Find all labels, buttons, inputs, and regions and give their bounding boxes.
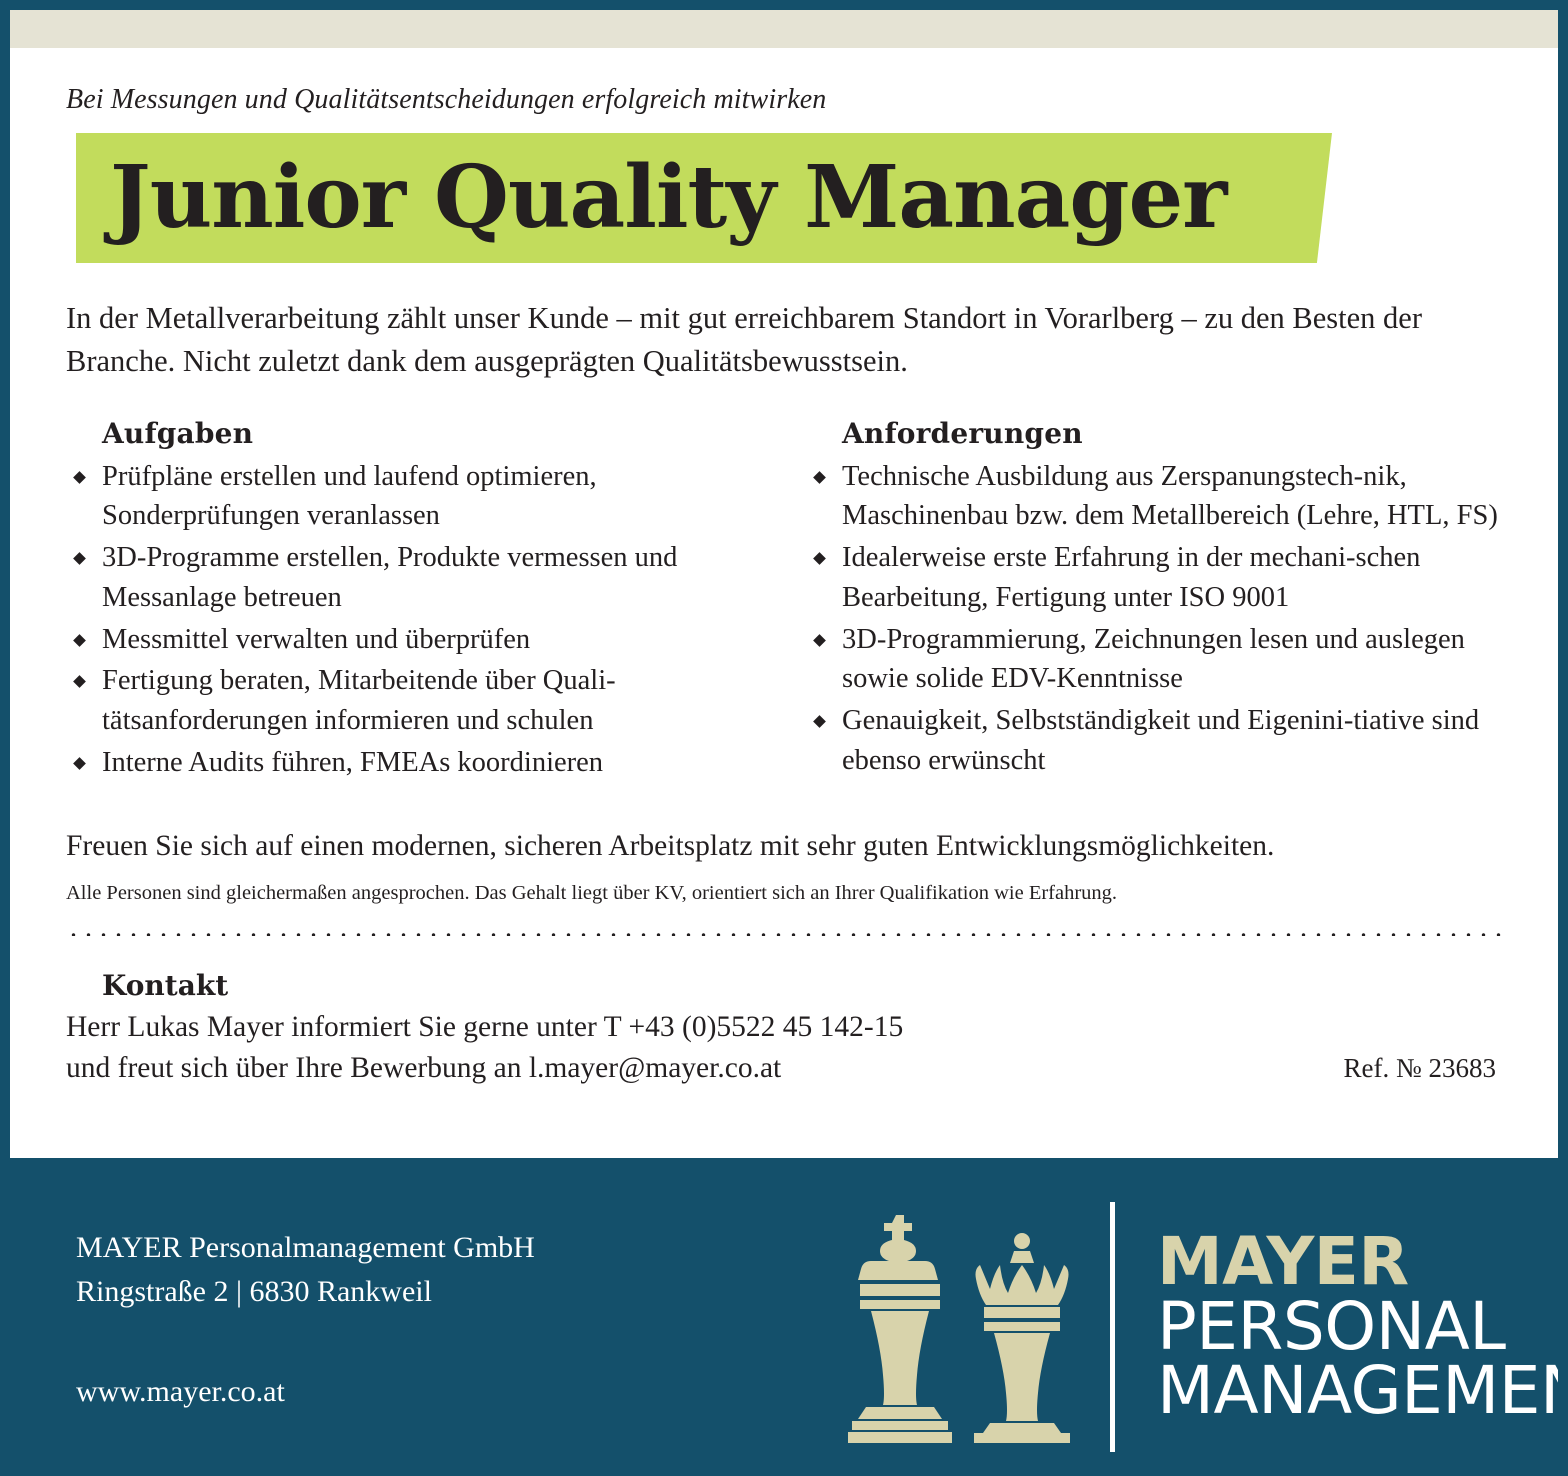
page-title: Junior Quality Manager: [110, 155, 1227, 241]
requirements-columns: Aufgaben Prüfpläne erstellen und laufend…: [66, 417, 1502, 785]
list-item: Technische Ausbildung aus Zerspanungstec…: [806, 457, 1502, 537]
chess-queen-icon: [968, 1233, 1076, 1443]
job-advertisement: Bei Messungen und Qualitätsentscheidunge…: [0, 0, 1568, 1476]
list-item-label: Fertigung beraten, Mitarbeitende über Qu…: [102, 665, 616, 736]
footer-address: Ringstraße 2 | 6830 Rankweil: [76, 1270, 836, 1314]
logo-word-personal: PERSONAL: [1157, 1295, 1568, 1360]
list-item-label: Technische Ausbildung aus Zerspanungstec…: [842, 461, 1498, 532]
list-item-label: 3D-Programmierung, Zeichnungen lesen und…: [842, 624, 1465, 695]
contact-email-line: und freut sich über Ihre Bewerbung an l.…: [66, 1048, 781, 1089]
list-item: Fertigung beraten, Mitarbeitende über Qu…: [66, 661, 762, 741]
list-item-label: Idealerweise erste Erfahrung in der mech…: [842, 542, 1420, 613]
anforderungen-list: Technische Ausbildung aus Zerspanungstec…: [806, 457, 1502, 781]
column-heading-aufgaben: Aufgaben: [102, 417, 762, 450]
aufgaben-list: Prüfpläne erstellen und laufend optimier…: [66, 457, 762, 783]
list-item: Genauigkeit, Selbstständigkeit und Eigen…: [806, 701, 1502, 781]
contact-heading: Kontakt: [102, 969, 1502, 1002]
logo-vertical-divider: [1110, 1202, 1115, 1452]
diamond-bullet-icon: [73, 757, 86, 770]
ad-content: Bei Messungen und Qualitätsentscheidunge…: [10, 48, 1558, 1158]
chess-pieces-icon: [846, 1211, 1076, 1443]
diamond-bullet-icon: [813, 634, 826, 647]
intro-paragraph: In der Metallverarbeitung zählt unser Ku…: [66, 297, 1486, 384]
footer: MAYER Personalmanagement GmbH Ringstraße…: [10, 1158, 1558, 1466]
diamond-bullet-icon: [813, 471, 826, 484]
list-item-label: 3D-Programme erstellen, Produkte vermess…: [102, 542, 677, 613]
list-item: Messmittel verwalten und überprüfen: [66, 620, 762, 660]
logo-word-management: MANAGEMENT: [1157, 1359, 1568, 1424]
list-item: Idealerweise erste Erfahrung in der mech…: [806, 538, 1502, 618]
contact-section: Kontakt Herr Lukas Mayer informiert Sie …: [66, 969, 1502, 1088]
list-item-label: Interne Audits führen, FMEAs koordiniere…: [102, 747, 603, 778]
column-anforderungen: Anforderungen Technische Ausbildung aus …: [806, 417, 1502, 785]
footer-company-block: MAYER Personalmanagement GmbH Ringstraße…: [10, 1158, 836, 1409]
fineprint-note: Alle Personen sind gleichermaßen angespr…: [66, 880, 1502, 908]
reference-number: Ref. № 23683: [1344, 1053, 1503, 1084]
company-logo: MAYER PERSONAL MANAGEMENT: [846, 1202, 1568, 1452]
list-item: Interne Audits führen, FMEAs koordiniere…: [66, 743, 762, 783]
kicker-tagline: Bei Messungen und Qualitätsentscheidunge…: [66, 48, 1502, 116]
diamond-bullet-icon: [73, 634, 86, 647]
diamond-bullet-icon: [813, 715, 826, 728]
top-beige-band: [10, 10, 1558, 48]
list-item-label: Genauigkeit, Selbstständigkeit und Eigen…: [842, 705, 1479, 776]
diamond-bullet-icon: [73, 471, 86, 484]
logo-word-mayer: MAYER: [1157, 1230, 1568, 1295]
job-title-banner: Junior Quality Manager: [66, 133, 1502, 263]
diamond-bullet-icon: [813, 552, 826, 565]
list-item: 3D-Programmierung, Zeichnungen lesen und…: [806, 620, 1502, 700]
footer-company-name: MAYER Personalmanagement GmbH: [76, 1226, 836, 1270]
list-item-label: Prüfpläne erstellen und laufend optimier…: [102, 461, 597, 532]
logo-wordmark: MAYER PERSONAL MANAGEMENT: [1157, 1230, 1568, 1424]
chess-king-icon: [846, 1211, 954, 1443]
dotted-divider: [66, 930, 1502, 936]
diamond-bullet-icon: [73, 552, 86, 565]
contact-bottom-row: und freut sich über Ihre Bewerbung an l.…: [66, 1048, 1502, 1089]
column-aufgaben: Aufgaben Prüfpläne erstellen und laufend…: [66, 417, 762, 785]
closing-paragraph: Freuen Sie sich auf einen modernen, sich…: [66, 827, 1502, 867]
diamond-bullet-icon: [73, 675, 86, 688]
contact-phone-line: Herr Lukas Mayer informiert Sie gerne un…: [66, 1007, 1502, 1048]
list-item: 3D-Programme erstellen, Produkte vermess…: [66, 538, 762, 618]
list-item-label: Messmittel verwalten und überprüfen: [102, 624, 530, 655]
list-item: Prüfpläne erstellen und laufend optimier…: [66, 457, 762, 537]
column-heading-anforderungen: Anforderungen: [842, 417, 1502, 450]
footer-website[interactable]: www.mayer.co.at: [76, 1375, 836, 1409]
